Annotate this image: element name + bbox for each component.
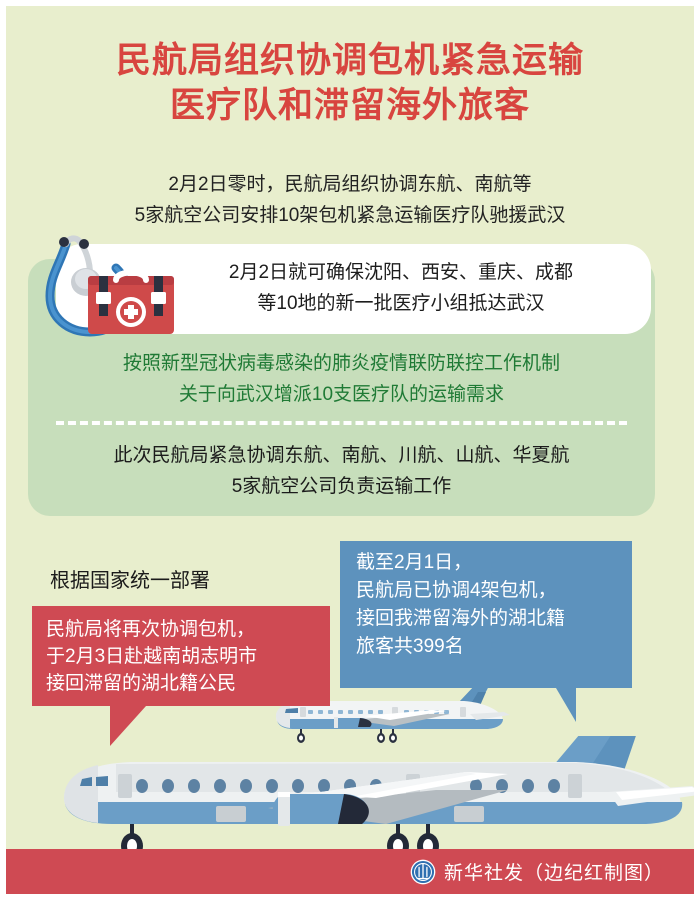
red-callout-line-1: 民航局将再次协调包机， [46, 616, 322, 643]
red-callout-line-2: 于2月3日赴越南胡志明市 [46, 643, 322, 670]
first-aid-kit-icon [88, 273, 174, 335]
green-p2-line-2: 5家航空公司负责运输工作 [36, 471, 647, 502]
red-callout-line-3: 接回滞留的湖北籍公民 [46, 670, 322, 697]
medical-kit-icon [28, 234, 178, 354]
green-paragraph-2: 此次民航局紧急协调东航、南航、川航、山航、华夏航 5家航空公司负责运输工作 [36, 440, 647, 502]
dashed-divider [56, 421, 627, 425]
title-line-1: 民航局组织协调包机紧急运输 [6, 38, 694, 83]
xinhua-logo-icon [410, 859, 436, 885]
infographic-poster: 民航局组织协调包机紧急运输 医疗队和滞留海外旅客 2月2日零时，民航局组织协调东… [0, 0, 700, 900]
blue-callout-line-4: 旅客共399名 [356, 633, 628, 661]
white-card-line-2: 等10地的新一批医疗小组抵达武汉 [166, 288, 636, 319]
blue-callout-line-1: 截至2月1日， [356, 549, 628, 577]
lead-paragraph: 2月2日零时，民航局组织协调东航、南航等 5家航空公司安排10架包机紧急运输医疗… [6, 169, 694, 231]
page-title: 民航局组织协调包机紧急运输 医疗队和滞留海外旅客 [6, 38, 694, 128]
green-p1-line-2: 关于向武汉增派10支医疗队的运输需求 [46, 379, 637, 410]
lead-line-1: 2月2日零时，民航局组织协调东航、南航等 [6, 169, 694, 200]
blue-callout-line-2: 民航局已协调4架包机， [356, 577, 628, 605]
footer-bar: 新华社发（边纪红制图） [6, 849, 694, 894]
blue-callout-tail [556, 688, 576, 722]
poster-canvas: 民航局组织协调包机紧急运输 医疗队和滞留海外旅客 2月2日零时，民航局组织协调东… [6, 6, 694, 894]
green-p2-line-1: 此次民航局紧急协调东航、南航、川航、山航、华夏航 [36, 440, 647, 471]
footer-content: 新华社发（边纪红制图） [410, 849, 664, 894]
blue-callout-line-3: 接回我滞留海外的湖北籍 [356, 605, 628, 633]
blue-callout-box: 截至2月1日， 民航局已协调4架包机， 接回我滞留海外的湖北籍 旅客共399名 [340, 541, 632, 688]
red-callout-box: 民航局将再次协调包机， 于2月3日赴越南胡志明市 接回滞留的湖北籍公民 [32, 606, 330, 706]
blue-callout-text: 截至2月1日， 民航局已协调4架包机， 接回我滞留海外的湖北籍 旅客共399名 [356, 549, 628, 661]
white-card-line-1: 2月2日就可确保沈阳、西安、重庆、成都 [166, 257, 636, 288]
title-line-2: 医疗队和滞留海外旅客 [6, 83, 694, 128]
white-card-text: 2月2日就可确保沈阳、西安、重庆、成都 等10地的新一批医疗小组抵达武汉 [166, 257, 636, 319]
red-callout-text: 民航局将再次协调包机， 于2月3日赴越南胡志明市 接回滞留的湖北籍公民 [46, 616, 322, 697]
airplane-large-icon [56, 736, 694, 866]
lead-line-2: 5家航空公司安排10架包机紧急运输医疗队驰援武汉 [6, 200, 694, 231]
green-paragraph-1: 按照新型冠状病毒感染的肺炎疫情联防联控工作机制 关于向武汉增派10支医疗队的运输… [46, 348, 637, 410]
footer-credit-text: 新华社发（边纪红制图） [444, 858, 664, 885]
deploy-label: 根据国家统一部署 [50, 568, 210, 594]
